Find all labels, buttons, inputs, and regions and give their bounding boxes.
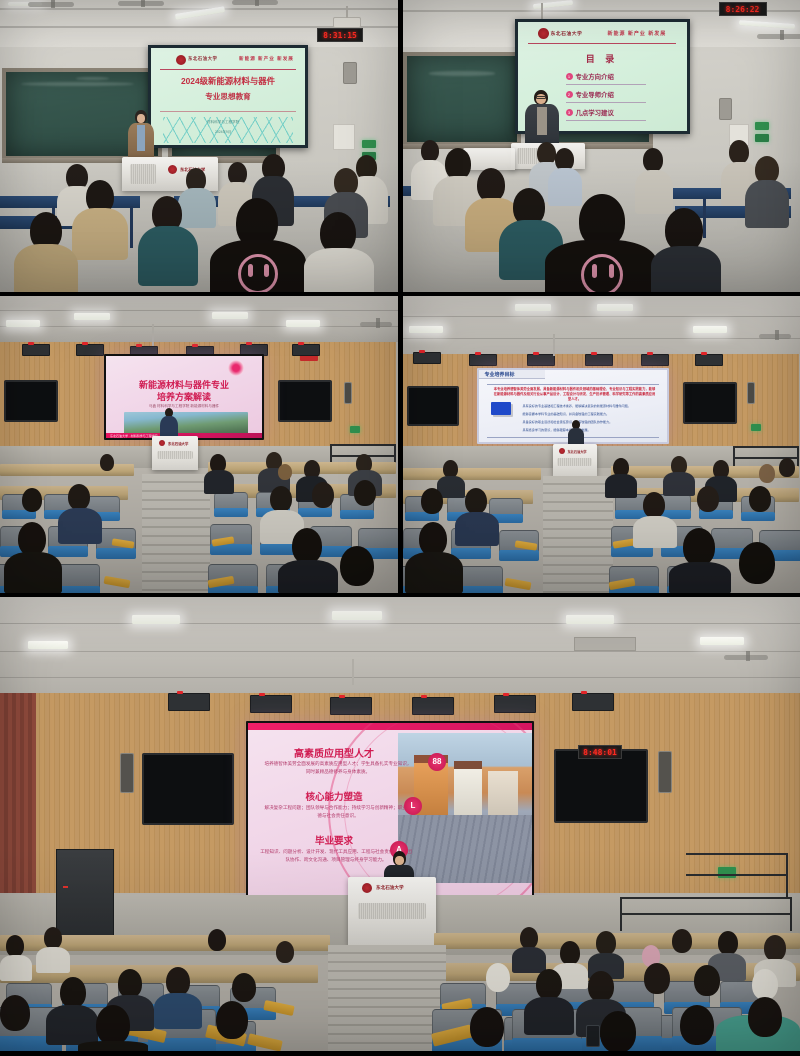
village-building [454, 767, 482, 815]
wall-speaker [747, 382, 755, 404]
slide-section-2-text: 解决复杂工程问题；团队领导与合作能力；持续学习与创新精神；职业道德与社会责任意识… [264, 804, 412, 820]
ceiling-panel-light [566, 615, 614, 624]
slide-subtitle: 专业思想教育 [151, 91, 305, 102]
stage-light [585, 354, 613, 366]
student-body [512, 947, 546, 973]
wall-speaker [120, 753, 134, 793]
student-body [204, 470, 234, 494]
stair-railing[interactable] [620, 897, 792, 931]
stage-light [76, 344, 104, 356]
ceiling-panel-light [74, 313, 110, 320]
village-cobblestone [398, 815, 532, 883]
chalk-smudge [21, 82, 133, 86]
slide-footer-line-2: 2024年9月 [215, 129, 231, 134]
ceiling-fan [724, 655, 768, 660]
podium-grille [157, 451, 193, 459]
photo-collage: 8:31:15 东北石油大学 新能源 新产业 新发展 [0, 0, 800, 1056]
led-clock-time: 8:48:01 [583, 748, 617, 757]
student-body [524, 997, 574, 1035]
slide-blue-graphic [491, 402, 511, 415]
student-head [477, 168, 505, 202]
podium: 东北石油大学 [553, 444, 597, 476]
student-head [643, 148, 663, 172]
wall-monitor [407, 386, 459, 426]
slide-paragraph: 本专业培养德智体美劳全面发展，具备新能源材料与器件相关领域的基础理论、专业知识与… [493, 387, 657, 402]
slide-banner-tag: 新能源 新产业 新发展 [608, 30, 667, 37]
student-head [486, 963, 510, 992]
student-body [154, 993, 202, 1029]
student-head [596, 931, 616, 955]
slide-university-name: 东北石油大学 [551, 30, 583, 37]
stage-light [22, 344, 50, 356]
student-head [276, 941, 294, 963]
exit-sign-secondary [755, 134, 769, 142]
slide-section-2-title: 核心能力塑造 [254, 789, 414, 803]
student-head-foreground [216, 1001, 248, 1039]
university-logo-icon [228, 360, 244, 376]
led-clock-time: 8:26:22 [726, 5, 760, 14]
student-head-foreground [683, 528, 715, 566]
photo-4[interactable]: 专业培养目标 本专业培养德智体美劳全面发展，具备新能源材料与器件相关领域的基础理… [403, 296, 800, 593]
student-body [663, 472, 695, 496]
student-head-foreground [419, 522, 447, 556]
podium-university-name: 东北石油大学 [376, 885, 404, 891]
ceiling-panel-light [409, 326, 443, 333]
lectern-logo-icon [168, 165, 177, 174]
slide-bullet-2: 能够掌握本学科专业的基础知识，并具备较强的工程实践能力。 [523, 411, 610, 416]
podium-grille [358, 903, 426, 919]
chalk-smudge [429, 71, 495, 75]
student-head-foreground [0, 995, 30, 1031]
hall-desk [403, 468, 541, 480]
student-head [354, 480, 376, 506]
chalkboard [403, 52, 521, 146]
podium: 东北石油大学 [348, 877, 436, 945]
exit-sign-secondary [751, 424, 761, 431]
led-clock-time: 8:31:15 [323, 31, 357, 40]
toc-item-3: 3 几点学习建议 [566, 108, 614, 117]
hoodie-smiley-eye [592, 264, 597, 278]
ceiling-panel-light [286, 320, 320, 327]
hall-ceiling [0, 296, 398, 342]
village-building [488, 771, 518, 815]
student-head [536, 969, 562, 1000]
seat-armrest [104, 576, 131, 588]
slide-university-name: 东北石油大学 [188, 56, 217, 62]
student-body [138, 226, 198, 286]
student-head [718, 931, 738, 955]
wall-speaker [719, 98, 732, 120]
student-head [644, 963, 670, 994]
hall-desk [0, 464, 134, 476]
student-body-foreground [304, 248, 374, 292]
photo-1-content: 8:31:15 东北石油大学 新能源 新产业 新发展 [0, 0, 398, 292]
student-head [643, 492, 665, 518]
photo-5[interactable]: 8:48:01 [0, 597, 800, 1051]
podium-grille [557, 458, 592, 466]
student-head [694, 965, 720, 996]
stage-light [527, 354, 555, 366]
ceiling-panel-light [332, 611, 382, 620]
ceiling-panel-light [597, 304, 633, 311]
student-body-foreground [78, 1041, 148, 1051]
student-head [764, 935, 786, 961]
photo-4-content: 专业培养目标 本专业培养德智体美劳全面发展，具备新能源材料与器件相关领域的基础理… [403, 296, 800, 593]
led-clock: 8:48:01 [578, 745, 622, 759]
center-stairs [543, 476, 613, 593]
ceiling-fan [28, 2, 74, 7]
collage-row-top: 8:31:15 东北石油大学 新能源 新产业 新发展 [0, 0, 800, 292]
upper-railing[interactable] [686, 853, 788, 897]
ceiling-panel-light [700, 637, 744, 645]
ceiling-vent [574, 637, 636, 651]
wall-speaker [343, 62, 357, 84]
slide-photo-1: 东北石油大学 新能源 新产业 新发展 2024级新能源材料与器件 专业思想教育 … [151, 48, 305, 145]
seat-armrest [504, 578, 531, 590]
student-head [100, 454, 114, 471]
student-head-foreground [292, 528, 322, 564]
presenter-shirt [537, 107, 547, 135]
wall-monitor [278, 380, 332, 422]
toc-item-label: 专业导师介绍 [576, 90, 614, 99]
chalk-smudge [76, 77, 109, 80]
hoodie-smiley-eye [248, 264, 253, 277]
student-head [118, 969, 142, 998]
ceiling-projector [333, 17, 361, 28]
student-head-foreground [96, 1005, 130, 1045]
student-body [46, 1005, 98, 1045]
student-head [44, 927, 62, 949]
student-head [520, 927, 538, 949]
hoodie-smiley-eye [609, 264, 614, 278]
student-body [36, 947, 70, 973]
projector-mount [352, 659, 354, 685]
student-head [6, 935, 24, 957]
wall-monitor [554, 749, 648, 823]
hall-ceiling [0, 597, 800, 693]
student-head [421, 140, 439, 162]
photo-3[interactable]: 新能源材料与器件专业 培养方案解读 马鑫 材料科学与工程学院 新能源材料与器件 … [0, 296, 398, 593]
student-body [178, 188, 216, 228]
student-head-foreground [748, 997, 782, 1037]
student-body-foreground [651, 246, 721, 292]
lectern-grille [517, 148, 539, 164]
student-head [759, 464, 775, 483]
student-head [270, 486, 292, 512]
desk-leg [130, 206, 133, 248]
ceiling-panel-light [693, 326, 727, 333]
student-body [635, 170, 673, 214]
student-head [312, 482, 334, 508]
student-head [697, 486, 719, 512]
slide-section-1-title: 高素质应用型人才 [254, 745, 414, 760]
student-body [605, 474, 637, 498]
student-body [455, 512, 499, 546]
stage-light [469, 354, 497, 366]
led-screen: 新能源材料与器件专业 培养方案解读 马鑫 材料科学与工程学院 新能源材料与器件 … [104, 354, 264, 440]
student-head [749, 486, 771, 512]
slide-footer-text: 东北石油大学 · 材料科学与工程学院 [110, 434, 158, 438]
student-body-foreground [405, 552, 463, 593]
student-head-foreground [739, 542, 775, 584]
slide-badge-2: L [404, 797, 422, 815]
ceiling-fan [759, 334, 791, 339]
exit-sign [755, 122, 769, 130]
student-body [0, 955, 32, 981]
projector-mount [152, 324, 154, 346]
hoodie-smiley-eye [264, 264, 269, 277]
student-head [68, 484, 90, 510]
university-logo-icon [538, 28, 549, 39]
toc-item-label: 专业方向介绍 [576, 72, 614, 81]
student-head [729, 140, 749, 164]
side-curtain [0, 693, 36, 893]
hall-desk [434, 933, 800, 949]
presenter [126, 110, 156, 162]
lectern-grille [130, 164, 156, 184]
hoodie-smiley-graphic [238, 254, 278, 292]
ceiling-fan [118, 1, 164, 6]
podium-university-name: 东北石油大学 [568, 449, 587, 454]
ceiling-fan [757, 34, 800, 39]
presenter-shirt [137, 125, 145, 151]
center-stairs [328, 945, 446, 1051]
student-head [278, 464, 292, 480]
projector-mount [553, 334, 555, 356]
student-head [232, 973, 256, 1002]
ceiling-panel-light [515, 304, 551, 311]
student-head [672, 929, 692, 953]
student-body [633, 516, 677, 548]
slide-photo-3: 新能源材料与器件专业 培养方案解读 马鑫 材料科学与工程学院 新能源材料与器件 … [106, 356, 262, 438]
equipment-rack [56, 849, 114, 941]
led-clock: 8:26:22 [719, 2, 767, 16]
student-body-foreground [669, 562, 731, 593]
ceiling-panel-light [132, 615, 180, 624]
student-body-foreground [14, 244, 78, 292]
slide-toc-title: 目 录 [518, 52, 687, 65]
slide-title-line-2: 培养方案解读 [106, 390, 262, 403]
toc-item-number: 1 [566, 73, 573, 80]
ceiling-panel-light [212, 312, 248, 319]
stage-light [292, 344, 320, 356]
stage-light [412, 697, 454, 715]
slide-badge-1: 88 [428, 753, 446, 771]
student-head [22, 488, 42, 512]
slide-section-1-text: 培养德智体美劳全面发展的高素质应用型人才；学生具备扎实专业知识，同时兼顾品德修养… [264, 760, 412, 776]
student-head [208, 929, 226, 951]
wall-monitor [4, 380, 58, 422]
ceiling-panel-light [6, 320, 40, 327]
slide-byline: 马鑫 材料科学与工程学院 新能源材料与器件 [106, 404, 262, 409]
student-head [421, 488, 443, 514]
student-head [465, 488, 487, 514]
student-head-foreground [18, 522, 46, 556]
presenter [567, 420, 585, 446]
wall-speaker [344, 382, 352, 404]
podium-logo-icon [559, 448, 565, 454]
student-head [588, 971, 614, 1002]
student-head [779, 458, 795, 477]
student-head [560, 941, 580, 965]
stage-light [168, 693, 210, 711]
auditorium-seat[interactable] [214, 492, 248, 516]
center-stairs [142, 474, 210, 593]
ceiling-panel-light [28, 641, 68, 649]
student-head [752, 969, 778, 1000]
presenter-glasses-icon [536, 96, 546, 99]
university-logo-icon [176, 55, 186, 65]
student-body [548, 168, 582, 206]
toc-item-number: 3 [566, 109, 573, 116]
student-head-foreground [340, 546, 374, 586]
slide-title: 2024级新能源材料与器件 [151, 75, 305, 87]
photo-5-content: 8:48:01 [0, 597, 800, 1051]
toc-item-number: 2 [566, 91, 573, 98]
led-clock: 8:31:15 [317, 28, 363, 42]
stage-light [641, 354, 669, 366]
slide-banner-tag: 新能源 新产业 新发展 [239, 56, 294, 62]
student-body [745, 180, 789, 228]
podium-university-name: 东北石油大学 [168, 441, 188, 446]
photo-3-content: 新能源材料与器件专业 培养方案解读 马鑫 材料科学与工程学院 新能源材料与器件 … [0, 296, 398, 593]
student-head [166, 967, 190, 996]
student-head-foreground [680, 1005, 714, 1045]
photo-2[interactable]: 8:26:22 东北石油大学 新能源 新产业 新发展 目 录 [403, 0, 800, 292]
wall-monitor [142, 753, 234, 825]
slide-footer-line-1: 材料科学与工程学院 [207, 120, 239, 125]
collage-row-bottom: 8:48:01 [0, 597, 800, 1051]
toc-item-1: 1 专业方向介绍 [566, 72, 614, 81]
ceiling-fan [360, 322, 392, 327]
podium-logo-icon [362, 883, 372, 893]
hoodie-smiley-graphic [581, 254, 623, 292]
student-body [72, 208, 128, 260]
projection-screen: 东北石油大学 新能源 新产业 新发展 2024级新能源材料与器件 专业思想教育 … [148, 45, 308, 148]
presenter-face [137, 114, 145, 123]
student-body [58, 508, 102, 544]
toc-item-2: 2 专业导师介绍 [566, 90, 614, 99]
student-head-foreground [600, 1011, 636, 1051]
wall-monitor [683, 382, 737, 424]
presenter [525, 90, 559, 148]
exit-sign-secondary [350, 426, 360, 433]
student-body-foreground [278, 560, 338, 593]
village-roof [454, 761, 482, 769]
stage-light [695, 354, 723, 366]
student-body-foreground [4, 552, 62, 593]
wall-speaker [658, 751, 672, 793]
podium: 东北石油大学 [152, 436, 198, 470]
smartphone-screen [586, 1025, 600, 1047]
photo-2-content: 8:26:22 东北石油大学 新能源 新产业 新发展 目 录 [403, 0, 800, 292]
stage-light [250, 695, 292, 713]
projector-mount [346, 6, 348, 18]
stage-light [494, 695, 536, 713]
slide-bullet-1: 具有良好的专业基础和工程技术素养，能够解决复杂的新能源材料与器件问题。 [523, 403, 631, 408]
student-head [60, 977, 86, 1008]
toc-item-label: 几点学习建议 [576, 108, 614, 117]
collage-row-middle: 新能源材料与器件专业 培养方案解读 马鑫 材料科学与工程学院 新能源材料与器件 … [0, 296, 800, 593]
exit-sign [362, 140, 376, 148]
student-head-foreground [470, 1007, 504, 1047]
stage-light [330, 697, 372, 715]
presenter-face [395, 856, 404, 865]
desk-leg [703, 198, 706, 238]
ceiling-fan [232, 0, 278, 5]
wall-plate [333, 124, 355, 150]
slide-tab-title: 专业培养目标 [485, 371, 515, 378]
stage-light [413, 352, 441, 364]
podium-logo-icon [159, 440, 165, 446]
photo-1[interactable]: 8:31:15 东北石油大学 新能源 新产业 新发展 [0, 0, 398, 292]
stage-light [572, 693, 614, 711]
